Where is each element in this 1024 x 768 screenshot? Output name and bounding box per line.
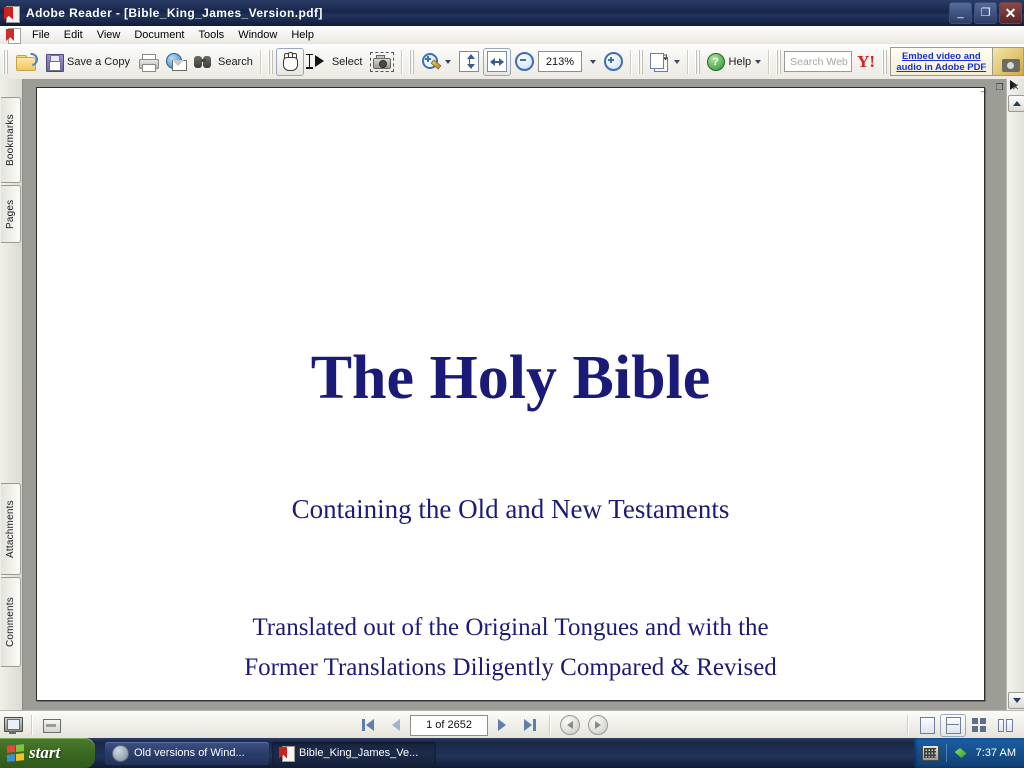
fit-page-width-icon [487,51,507,72]
back-arrow-icon [560,715,580,735]
toolbar-separator [687,50,689,74]
navigation-pane-tabs: Bookmarks Pages Attachments Comments [0,79,23,710]
triangle-left-icon [392,719,400,731]
open-folder-icon [15,53,37,71]
facing-pages-icon [972,718,986,732]
close-icon: ✕ [1005,6,1017,20]
continuous-facing-icon [998,719,1013,732]
email-button[interactable] [162,48,190,76]
pdf-icon [279,746,294,761]
zoom-in-button[interactable] [600,48,627,76]
layout-continuous-facing-button[interactable] [992,714,1018,737]
network-icon[interactable] [954,746,969,760]
restore-icon: ❐ [981,8,991,19]
printer-icon [138,53,158,71]
toolbar-separator [260,50,262,74]
adobe-ad-banner[interactable]: Embed video and audio in Adobe PDF [890,47,993,76]
triangle-up-icon [1013,101,1021,106]
layout-facing-button[interactable] [966,714,992,737]
zoom-out-button[interactable] [511,48,538,76]
window-mode-icon[interactable] [41,716,61,734]
windows-flag-icon [7,744,24,762]
doc-minimize-button[interactable]: _ [977,81,990,93]
taskbar-item-adobe-reader[interactable]: Bible_King_James_Ve... [272,742,436,765]
layout-continuous-button[interactable] [940,714,966,737]
window-controls: _ ❐ ✕ [949,2,1022,24]
system-tray: 7:37 AM [914,738,1024,768]
last-page-icon [524,719,536,731]
zoom-in-icon [604,52,623,71]
doc-restore-button[interactable]: ❐ [993,81,1006,93]
nav-tab-pages-label: Pages [5,199,16,228]
status-separator [907,715,909,735]
menu-bar: File Edit View Document Tools Window Hel… [0,26,1024,45]
zoom-out-icon [515,52,534,71]
nav-tab-bookmarks-label: Bookmarks [5,114,16,166]
ad-thumbnail-icon [993,47,1024,76]
fit-page-height-icon [459,51,479,72]
fit-width-button[interactable] [483,48,511,76]
magnifier-icon [421,53,441,71]
scroll-up-button[interactable] [1008,95,1024,112]
restore-button[interactable]: ❐ [974,2,997,24]
zoom-level-input[interactable]: 213% [538,51,581,72]
search-button[interactable]: Search [190,48,257,76]
menu-item-file[interactable]: File [25,28,57,42]
doc-restore-icon: ❐ [995,82,1003,93]
select-label: Select [332,56,363,68]
adobe-reader-icon [4,5,21,22]
ad-line-2[interactable]: audio in Adobe PDF [896,62,986,73]
layout-single-page-button[interactable] [914,714,940,737]
select-tool-button[interactable]: Select [304,48,367,76]
chevron-down-icon[interactable] [755,60,761,64]
toolbar-grip[interactable] [268,50,273,74]
page-body-line-2: Former Translations Diligently Compared … [37,648,984,688]
minimize-icon: _ [957,8,963,19]
chevron-down-icon[interactable] [445,60,451,64]
page-title: The Holy Bible [37,343,984,414]
binoculars-icon [194,54,214,70]
toolbar-separator [630,50,632,74]
toolbar-grip[interactable] [776,50,781,74]
doc-minimize-icon: _ [981,82,986,92]
menu-item-tools[interactable]: Tools [192,28,232,42]
menu-item-help[interactable]: Help [284,28,321,42]
previous-page-button[interactable] [382,714,410,736]
minimize-button[interactable]: _ [949,2,972,24]
doc-close-icon: ✕ [1012,82,1020,93]
scroll-down-button[interactable] [1008,692,1024,709]
nav-tab-attachments[interactable]: Attachments [1,483,21,575]
close-button[interactable]: ✕ [999,2,1022,24]
print-button[interactable] [134,48,162,76]
status-separator [549,715,551,735]
fit-height-button[interactable] [455,48,483,76]
first-page-button[interactable] [354,714,382,736]
globe-envelope-icon [166,53,186,71]
save-a-copy-button[interactable]: Save a Copy [41,48,134,76]
document-icon [5,27,21,43]
client-area: Bookmarks Pages Attachments Comments _ ❐… [0,79,1024,710]
snapshot-tool-button[interactable] [366,48,398,76]
taskbar-item-browser-label: Old versions of Wind... [134,747,245,759]
help-label: Help [729,56,752,68]
page-body-line-1: Translated out of the Original Tongues a… [37,608,984,648]
help-button[interactable]: ? Help [703,48,766,76]
pdf-page: The Holy Bible Containing the Old and Ne… [36,87,985,701]
tray-separator [946,744,947,762]
toolbar-grip[interactable] [3,50,8,74]
document-window-controls: _ ❐ ✕ [977,81,1022,93]
first-page-icon [362,719,374,731]
save-a-copy-label: Save a Copy [67,56,130,68]
toolbar-grip[interactable] [882,50,887,74]
browser-icon [112,745,129,762]
search-label: Search [218,56,253,68]
search-web-input[interactable]: Search Web [784,51,852,72]
nav-tab-comments[interactable]: Comments [1,577,21,667]
menu-item-document[interactable]: Document [127,28,191,42]
zoom-level-dropdown[interactable] [582,48,600,76]
keyboard-language-icon[interactable] [922,745,939,761]
last-page-button[interactable] [516,714,544,736]
floppy-disk-icon [45,53,63,71]
document-vertical-scrollbar[interactable] [1006,79,1024,710]
main-toolbar: Save a Copy Search Select [0,44,1024,80]
menu-item-window[interactable]: Window [231,28,284,42]
status-bar: 1 of 2652 [0,710,1024,739]
adobe-reader-window: Adobe Reader - [Bible_King_James_Version… [0,0,1024,768]
system-clock[interactable]: 7:37 AM [976,747,1016,759]
doc-close-button[interactable]: ✕ [1009,81,1022,93]
help-question-icon: ? [707,53,725,71]
nav-tab-pages[interactable]: Pages [1,185,21,243]
taskbar-item-adobe-reader-label: Bible_King_James_Ve... [299,747,418,759]
search-web-placeholder: Search Web [790,56,848,68]
windows-taskbar: start Old versions of Wind... Bible_King… [0,738,1024,768]
triangle-down-icon [1013,698,1021,703]
chevron-down-icon[interactable] [674,60,680,64]
start-label: start [29,743,60,763]
ad-line-1[interactable]: Embed video and [902,51,981,62]
taskbar-item-browser[interactable]: Old versions of Wind... [105,742,269,765]
hand-tool-button[interactable] [276,48,304,76]
zoom-tool-button[interactable] [417,48,455,76]
nav-tab-bookmarks[interactable]: Bookmarks [1,97,21,183]
window-title: Adobe Reader - [Bible_King_James_Version… [26,6,323,20]
screen-mode-icon[interactable] [3,716,23,734]
page-copy-icon: ↴ [650,53,670,71]
forward-arrow-icon [588,715,608,735]
open-file-button[interactable] [11,48,41,76]
toolbar-grip[interactable] [695,50,700,74]
page-number-input[interactable]: 1 of 2652 [410,715,488,736]
start-button[interactable]: start [0,738,95,768]
text-select-icon [308,53,328,71]
toolbar-grip[interactable] [409,50,414,74]
next-page-button[interactable] [488,714,516,736]
previous-view-button[interactable] [556,714,584,736]
document-window: _ ❐ ✕ The Holy Bible Containing the Old … [23,79,1024,710]
taskbar-buttons: Old versions of Wind... Bible_King_James… [105,742,436,765]
toolbar-separator [401,50,403,74]
menu-item-view[interactable]: View [90,28,128,42]
single-page-icon [920,717,935,734]
triangle-right-icon [498,719,506,731]
nav-tab-attachments-label: Attachments [5,500,16,558]
yahoo-logo[interactable]: Y! [857,53,875,70]
page-subtitle: Containing the Old and New Testaments [37,494,984,525]
chevron-down-icon [590,60,596,64]
continuous-page-icon [946,717,961,734]
pages-tool-button[interactable]: ↴ [646,48,684,76]
status-separator [31,715,33,735]
toolbar-separator [768,50,770,74]
menu-item-edit[interactable]: Edit [57,28,90,42]
next-view-button[interactable] [584,714,612,736]
title-bar: Adobe Reader - [Bible_King_James_Version… [0,0,1024,26]
hand-icon [280,52,300,71]
camera-icon [370,52,394,72]
toolbar-grip[interactable] [638,50,643,74]
nav-tab-comments-label: Comments [5,597,16,647]
page-body-text: Translated out of the Original Tongues a… [37,608,984,688]
